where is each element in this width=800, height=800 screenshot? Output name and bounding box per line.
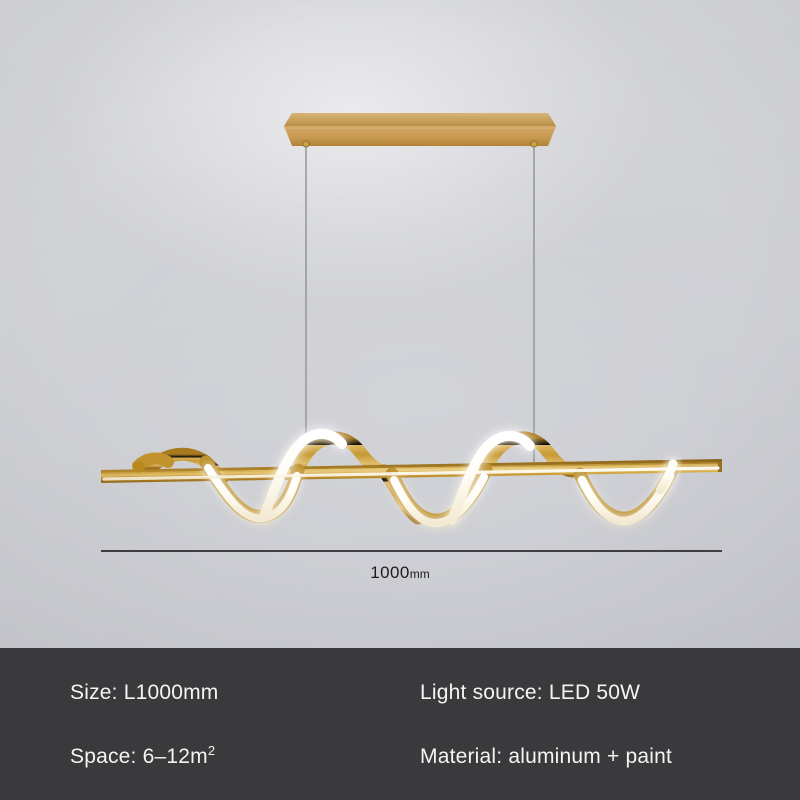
dimension-unit: mm — [410, 567, 430, 581]
spec-space: Space: 6–12m2 — [70, 745, 215, 769]
spec-material: Material: aluminum + paint — [420, 745, 672, 769]
specifications-panel: Size: L1000mm Light source: LED 50W Spac… — [0, 648, 800, 800]
wave-ribbon-front — [104, 434, 718, 523]
product-image-card: 1000mm Size: L1000mm Light source: LED 5… — [0, 0, 800, 800]
ceiling-mount-canopy — [284, 113, 556, 147]
dimension-value: 1000 — [370, 563, 409, 582]
suspension-cables — [306, 146, 534, 470]
spec-light-source: Light source: LED 50W — [420, 681, 640, 705]
dimension-label: 1000mm — [0, 563, 800, 583]
pendant-light-illustration — [0, 0, 800, 648]
spec-space-superscript: 2 — [208, 743, 215, 758]
spec-size: Size: L1000mm — [70, 681, 219, 705]
spec-space-text: Space: 6–12m — [70, 745, 208, 768]
